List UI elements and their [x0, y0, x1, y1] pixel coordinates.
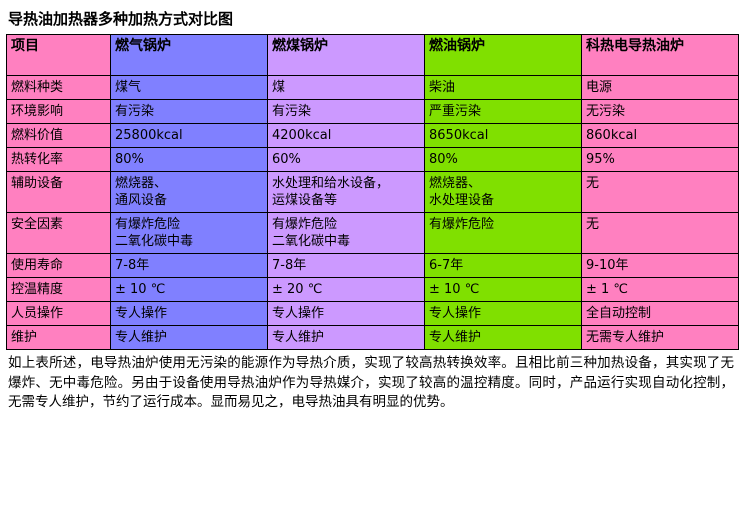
comparison-table: 项目 燃气锅炉 燃煤锅炉 燃油锅炉 科热电导热油炉 燃料种类 煤气 煤 柴油 电… — [6, 34, 739, 350]
cell-gas: ± 10 ℃ — [111, 278, 268, 302]
row-label: 燃料种类 — [7, 76, 111, 100]
cell-coal: 煤 — [268, 76, 425, 100]
row-label: 环境影响 — [7, 100, 111, 124]
document-page: 导热油加热器多种加热方式对比图 项目 燃气锅炉 燃煤锅炉 燃油锅炉 科热电导热油… — [0, 0, 744, 527]
cell-electric: 860kcal — [582, 124, 739, 148]
row-label: 安全因素 — [7, 213, 111, 254]
cell-oil: 6-7年 — [425, 254, 582, 278]
table-row: 使用寿命 7-8年 7-8年 6-7年 9-10年 — [7, 254, 739, 278]
cell-gas: 燃烧器、 通风设备 — [111, 172, 268, 213]
cell-gas: 煤气 — [111, 76, 268, 100]
cell-coal: 4200kcal — [268, 124, 425, 148]
cell-electric: 无污染 — [582, 100, 739, 124]
cell-coal: 60% — [268, 148, 425, 172]
cell-oil: ± 10 ℃ — [425, 278, 582, 302]
cell-coal: 7-8年 — [268, 254, 425, 278]
column-header-item: 项目 — [7, 35, 111, 76]
cell-electric: 无 — [582, 213, 739, 254]
cell-oil: 8650kcal — [425, 124, 582, 148]
row-label: 使用寿命 — [7, 254, 111, 278]
cell-gas: 25800kcal — [111, 124, 268, 148]
cell-gas: 7-8年 — [111, 254, 268, 278]
cell-oil: 专人操作 — [425, 302, 582, 326]
row-label: 热转化率 — [7, 148, 111, 172]
row-label: 维护 — [7, 326, 111, 350]
cell-gas: 专人维护 — [111, 326, 268, 350]
table-row: 燃料价值 25800kcal 4200kcal 8650kcal 860kcal — [7, 124, 739, 148]
table-row: 安全因素 有爆炸危险 二氧化碳中毒 有爆炸危险 二氧化碳中毒 有爆炸危险 无 — [7, 213, 739, 254]
table-row: 人员操作 专人操作 专人操作 专人操作 全自动控制 — [7, 302, 739, 326]
cell-coal: ± 20 ℃ — [268, 278, 425, 302]
column-header-gas-boiler: 燃气锅炉 — [111, 35, 268, 76]
cell-coal: 专人操作 — [268, 302, 425, 326]
table-row: 环境影响 有污染 有污染 严重污染 无污染 — [7, 100, 739, 124]
row-label: 控温精度 — [7, 278, 111, 302]
cell-electric: 95% — [582, 148, 739, 172]
cell-electric: 全自动控制 — [582, 302, 739, 326]
cell-gas: 专人操作 — [111, 302, 268, 326]
table-row: 辅助设备 燃烧器、 通风设备 水处理和给水设备， 运煤设备等 燃烧器、 水处理设… — [7, 172, 739, 213]
table-row: 控温精度 ± 10 ℃ ± 20 ℃ ± 10 ℃ ± 1 ℃ — [7, 278, 739, 302]
row-label: 燃料价值 — [7, 124, 111, 148]
cell-electric: 无需专人维护 — [582, 326, 739, 350]
cell-gas: 有污染 — [111, 100, 268, 124]
cell-oil: 柴油 — [425, 76, 582, 100]
table-row: 燃料种类 煤气 煤 柴油 电源 — [7, 76, 739, 100]
column-header-electric-heater: 科热电导热油炉 — [582, 35, 739, 76]
cell-oil: 专人维护 — [425, 326, 582, 350]
cell-oil: 燃烧器、 水处理设备 — [425, 172, 582, 213]
cell-oil: 有爆炸危险 — [425, 213, 582, 254]
cell-coal: 水处理和给水设备， 运煤设备等 — [268, 172, 425, 213]
cell-coal: 有爆炸危险 二氧化碳中毒 — [268, 213, 425, 254]
table-row: 热转化率 80% 60% 80% 95% — [7, 148, 739, 172]
cell-electric: ± 1 ℃ — [582, 278, 739, 302]
summary-paragraph: 如上表所述，电导热油炉使用无污染的能源作为导热介质，实现了较高热转换效率。且相比… — [6, 350, 738, 413]
row-label: 人员操作 — [7, 302, 111, 326]
cell-electric: 无 — [582, 172, 739, 213]
column-header-oil-boiler: 燃油锅炉 — [425, 35, 582, 76]
table-header-row: 项目 燃气锅炉 燃煤锅炉 燃油锅炉 科热电导热油炉 — [7, 35, 739, 76]
row-label: 辅助设备 — [7, 172, 111, 213]
table-row: 维护 专人维护 专人维护 专人维护 无需专人维护 — [7, 326, 739, 350]
column-header-coal-boiler: 燃煤锅炉 — [268, 35, 425, 76]
cell-gas: 有爆炸危险 二氧化碳中毒 — [111, 213, 268, 254]
cell-electric: 电源 — [582, 76, 739, 100]
cell-electric: 9-10年 — [582, 254, 739, 278]
cell-oil: 严重污染 — [425, 100, 582, 124]
page-title: 导热油加热器多种加热方式对比图 — [6, 6, 738, 34]
cell-gas: 80% — [111, 148, 268, 172]
cell-oil: 80% — [425, 148, 582, 172]
cell-coal: 有污染 — [268, 100, 425, 124]
cell-coal: 专人维护 — [268, 326, 425, 350]
